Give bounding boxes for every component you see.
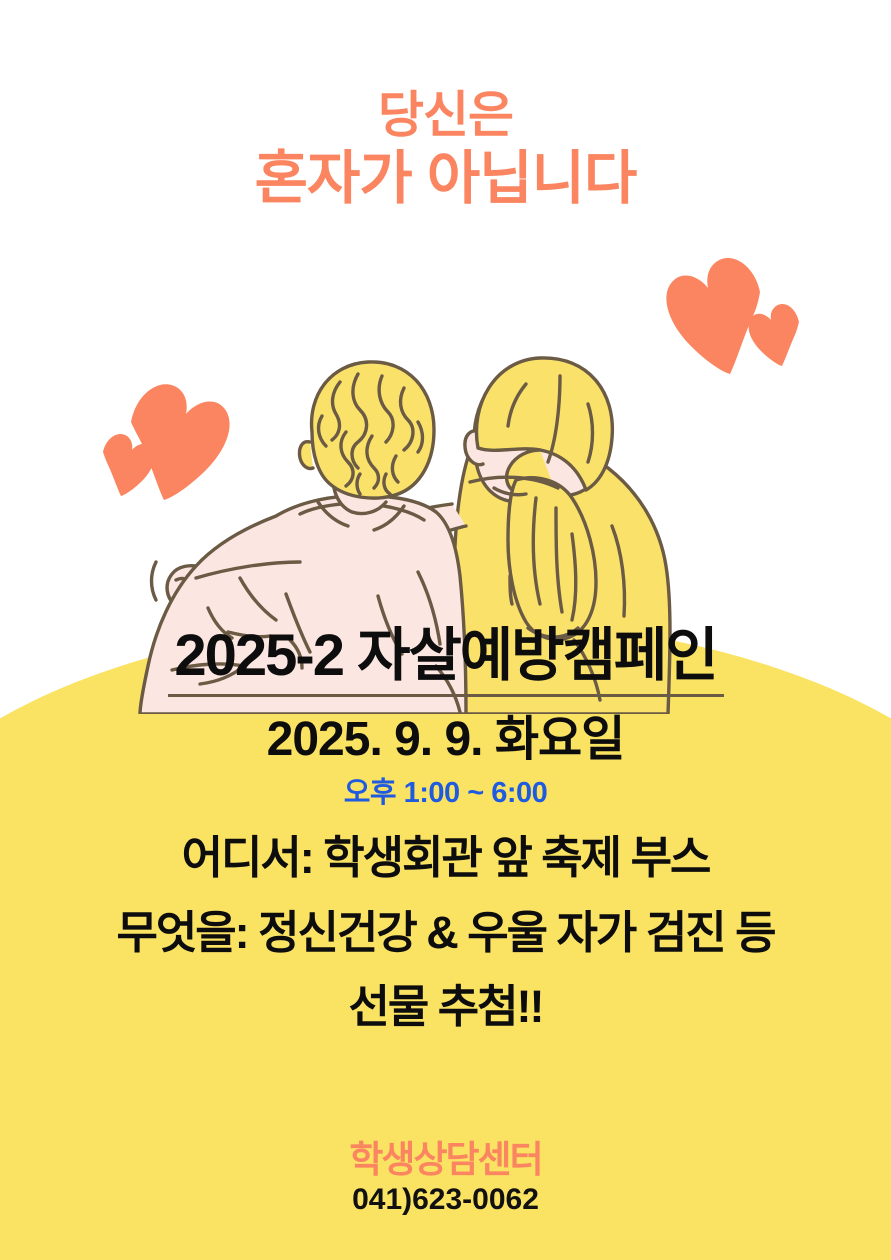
right-person-fold-1 (510, 576, 512, 604)
headline: 당신은 혼자가 아닙니다 (0, 86, 891, 213)
content-block: 2025-2 자살예방캠페인 2025. 9. 9. 화요일 오후 1:00 ~… (0, 624, 891, 1032)
event-prize: 선물 추첨!! (0, 982, 891, 1032)
left-person-ear (299, 442, 313, 469)
headline-line-2: 혼자가 아닙니다 (0, 145, 891, 213)
event-activities: 무엇을: 정신건강 & 우울 자가 검진 등 (0, 908, 891, 958)
title-underline (168, 694, 724, 697)
poster-canvas: 당신은 혼자가 아닙니다 (0, 0, 891, 1260)
footer-block: 학생상담센터 041)623-0062 (0, 1140, 891, 1217)
event-date: 2025. 9. 9. 화요일 (0, 715, 891, 765)
event-time: 오후 1:00 ~ 6:00 (0, 769, 891, 811)
headline-line-1: 당신은 (0, 86, 891, 145)
organization-name: 학생상담센터 (0, 1140, 891, 1181)
event-location: 어디서: 학생회관 앞 축제 부스 (0, 833, 891, 883)
left-person-hair (312, 362, 434, 498)
contact-phone: 041)623-0062 (0, 1183, 891, 1217)
campaign-title: 2025-2 자살예방캠페인 (0, 624, 891, 688)
thumb-outline (152, 562, 157, 600)
